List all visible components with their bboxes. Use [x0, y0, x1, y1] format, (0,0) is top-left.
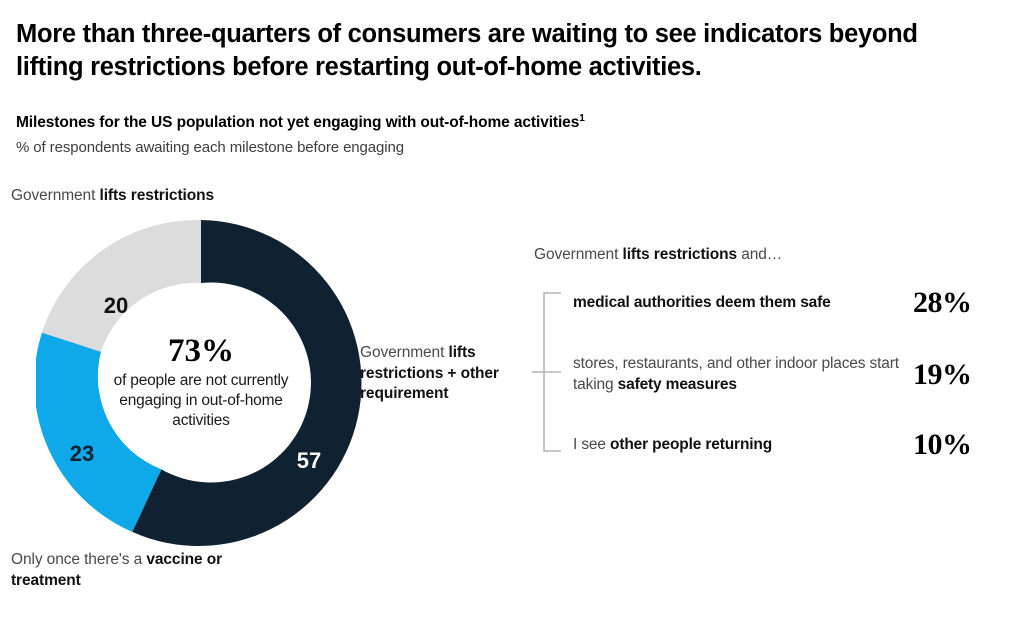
panel-title-plain-1: Government: [534, 246, 623, 263]
callout-government-lifts-restrictions: Government lifts restrictions: [11, 186, 231, 207]
breakdown-row[interactable]: medical authorities deem them safe 28%: [573, 286, 1009, 320]
donut-chart: 57 23 20 73% of people are not currently…: [36, 218, 366, 548]
footnote-marker: 1: [579, 113, 584, 124]
breakdown-row-value: 28%: [905, 286, 1009, 320]
chart-title: Milestones for the US population not yet…: [16, 113, 585, 132]
donut-center-caption: of people are not currently engaging in …: [100, 371, 302, 431]
breakdown-row[interactable]: stores, restaurants, and other indoor pl…: [573, 352, 1009, 398]
breakdown-panel: Government lifts restrictions and… medic…: [531, 246, 1011, 476]
row-label-bold: safety measures: [618, 376, 737, 393]
breakdown-row[interactable]: I see other people returning 10%: [573, 428, 1009, 462]
breakdown-row-label: medical authorities deem them safe: [573, 293, 905, 314]
breakdown-row-label: stores, restaurants, and other indoor pl…: [573, 354, 905, 395]
callout-bottom-plain: Only once there's a: [11, 551, 146, 568]
chart-title-text: Milestones for the US population not yet…: [16, 114, 579, 131]
donut-center-percent: 73%: [168, 334, 234, 369]
donut-value-blue: 23: [70, 441, 94, 466]
panel-title-bold: lifts restrictions: [623, 246, 737, 263]
donut-center-label: 73% of people are not currently engaging…: [100, 280, 302, 486]
breakdown-panel-title: Government lifts restrictions and…: [534, 246, 782, 264]
callout-top-left-bold: lifts restrictions: [100, 187, 214, 204]
breakdown-row-value: 19%: [905, 358, 1009, 392]
breakdown-row-value: 10%: [905, 428, 1009, 462]
callout-top-left-plain: Government: [11, 187, 100, 204]
callout-right-plain: Government: [360, 344, 449, 361]
chart-subtitle: % of respondents awaiting each milestone…: [16, 139, 404, 156]
bracket-icon: [531, 292, 571, 452]
callout-lifts-restrictions-plus-other: Government lifts restrictions + other re…: [360, 343, 540, 405]
row-label-plain-1: I see: [573, 436, 610, 453]
row-label-bold: other people returning: [610, 436, 772, 453]
page-headline: More than three-quarters of consumers ar…: [16, 18, 976, 83]
panel-title-plain-2: and…: [737, 246, 782, 263]
breakdown-row-label: I see other people returning: [573, 435, 905, 456]
row-label-bold: medical authorities deem them safe: [573, 294, 831, 311]
callout-vaccine-or-treatment: Only once there's a vaccine or treatment: [11, 550, 291, 591]
